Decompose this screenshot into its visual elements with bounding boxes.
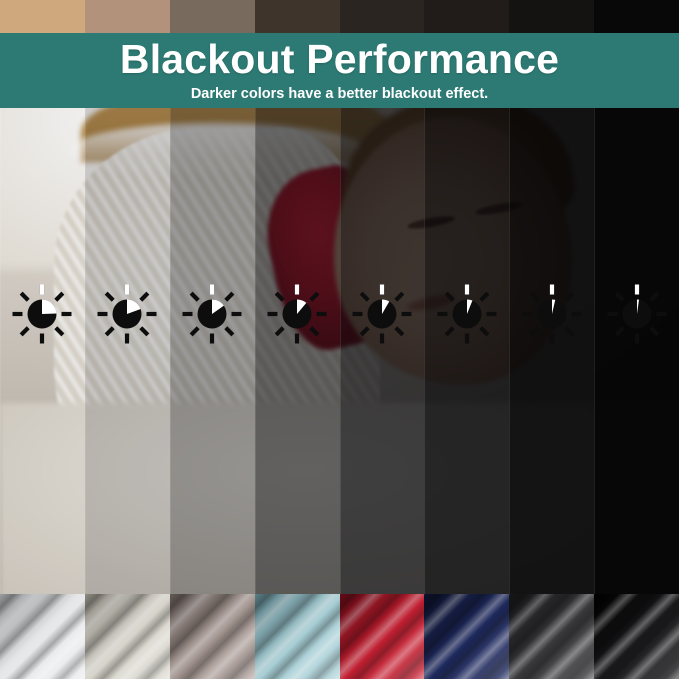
fabric-swatch-white[interactable] bbox=[0, 594, 85, 679]
fabric-swatch-ivory[interactable] bbox=[85, 594, 170, 679]
shade-band-light bbox=[85, 33, 170, 594]
color-gradient-strip bbox=[0, 0, 679, 33]
fabric-swatch-navy[interactable] bbox=[424, 594, 509, 679]
fabric-swatch-light-blue[interactable] bbox=[255, 594, 340, 679]
top-swatch-near-black-brown bbox=[424, 0, 509, 33]
fabric-sheen bbox=[509, 594, 594, 679]
top-swatch-beige bbox=[0, 0, 85, 33]
shade-band-blackout bbox=[594, 33, 679, 594]
photo-stage bbox=[0, 33, 679, 594]
fabric-sheen bbox=[170, 594, 255, 679]
shade-band-lightest bbox=[0, 33, 85, 594]
fabric-swatch-taupe-grey[interactable] bbox=[170, 594, 255, 679]
fabric-sheen bbox=[424, 594, 509, 679]
shade-band-medium bbox=[255, 33, 340, 594]
top-swatch-taupe bbox=[85, 0, 170, 33]
top-swatch-warm-grey bbox=[170, 0, 255, 33]
top-swatch-charcoal-brown bbox=[340, 0, 425, 33]
fabric-swatch-dark-grey[interactable] bbox=[509, 594, 594, 679]
top-swatch-black bbox=[594, 0, 679, 33]
shade-band-medium-dark bbox=[340, 33, 425, 594]
fabric-sheen bbox=[0, 594, 85, 679]
fabric-sheen bbox=[594, 594, 679, 679]
header-banner: Blackout Performance Darker colors have … bbox=[0, 33, 679, 108]
blackout-shade-bands bbox=[0, 33, 679, 594]
page-subtitle: Darker colors have a better blackout eff… bbox=[191, 87, 488, 102]
shade-band-very-dark bbox=[509, 33, 594, 594]
page-title: Blackout Performance bbox=[120, 39, 559, 80]
fabric-sheen bbox=[340, 594, 425, 679]
fabric-sheen bbox=[85, 594, 170, 679]
fabric-swatch-strip bbox=[0, 594, 679, 679]
top-swatch-very-dark bbox=[509, 0, 594, 33]
shade-band-dark bbox=[424, 33, 509, 594]
blackout-performance-infographic: Blackout Performance Darker colors have … bbox=[0, 0, 679, 679]
shade-band-medium-light bbox=[170, 33, 255, 594]
fabric-sheen bbox=[255, 594, 340, 679]
top-swatch-dark-brown bbox=[255, 0, 340, 33]
fabric-swatch-black[interactable] bbox=[594, 594, 679, 679]
fabric-swatch-red[interactable] bbox=[340, 594, 425, 679]
